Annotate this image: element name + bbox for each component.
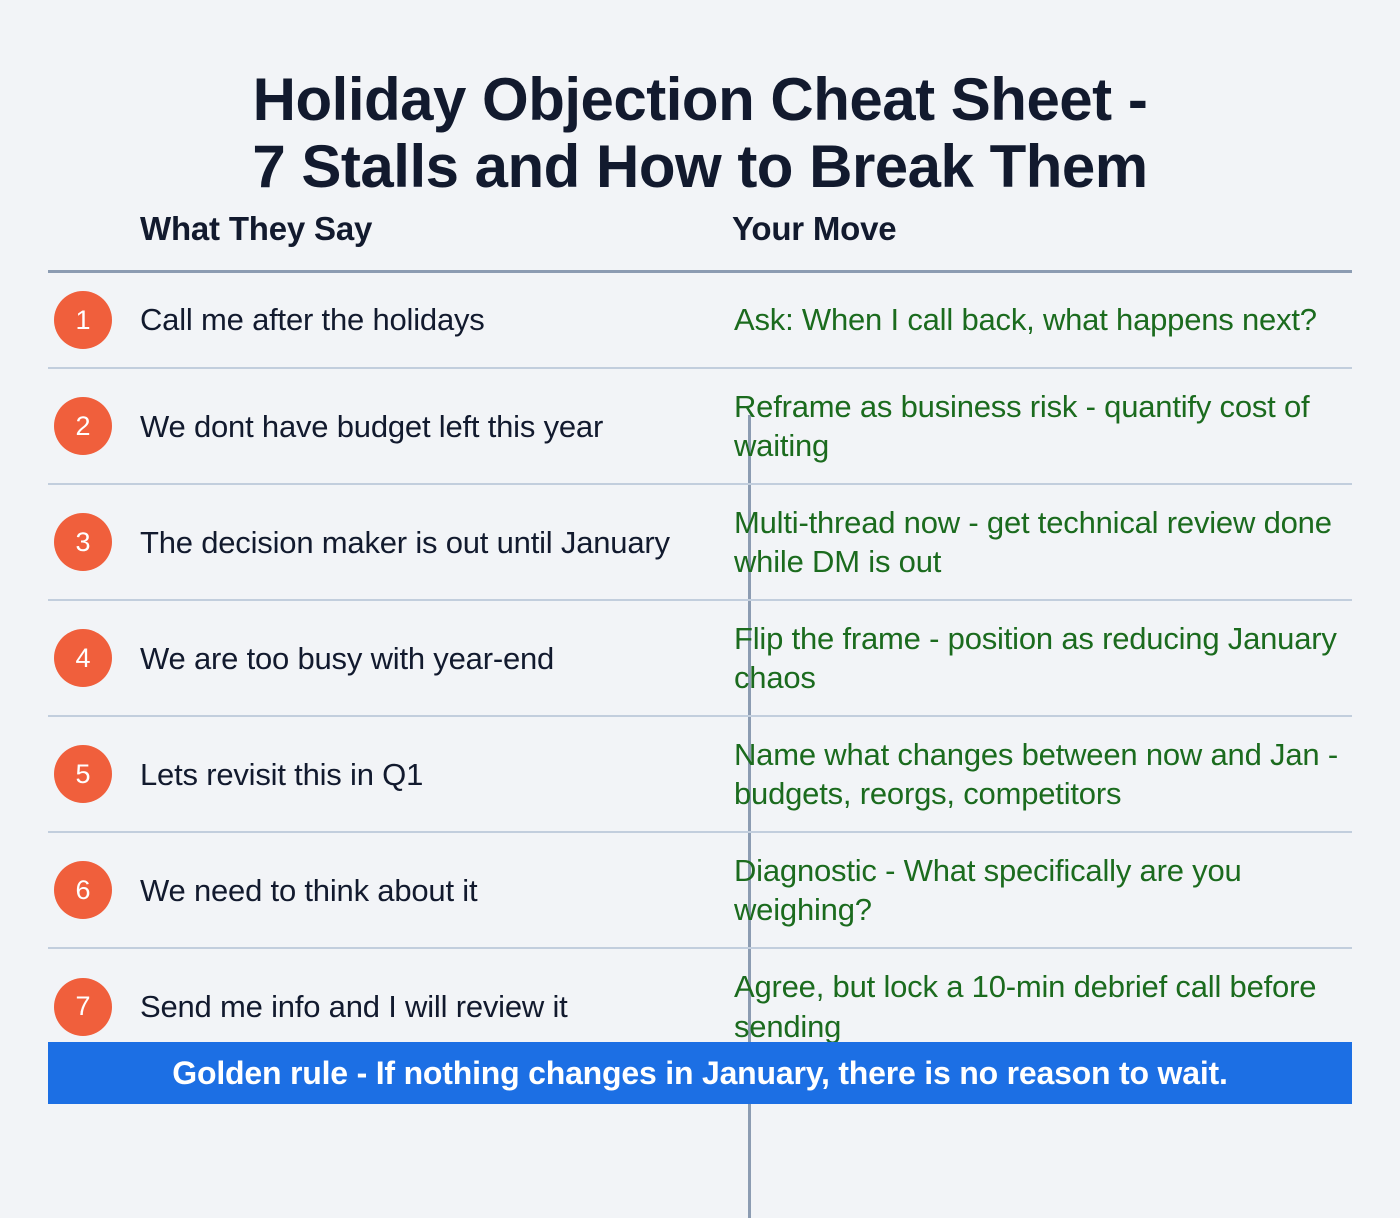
response-text: Agree, but lock a 10-min debrief call be… [734, 967, 1340, 1045]
table-row: 5 Lets revisit this in Q1 Name what chan… [48, 717, 1352, 833]
objections-table: What They Say Your Move 1 Call me after … [48, 200, 1352, 270]
page-title-line-2: 7 Stalls and How to Break Them [0, 133, 1400, 200]
row-number-badge: 4 [54, 629, 112, 687]
objection-cell: 3 The decision maker is out until Januar… [48, 485, 700, 599]
objection-text: Send me info and I will review it [140, 987, 568, 1026]
objection-text: We are too busy with year-end [140, 639, 554, 678]
row-number-badge: 7 [54, 978, 112, 1036]
golden-rule-banner: Golden rule - If nothing changes in Janu… [48, 1042, 1352, 1104]
response-cell: Diagnostic - What specifically are you w… [700, 833, 1352, 947]
golden-rule-text: Golden rule - If nothing changes in Janu… [172, 1055, 1227, 1092]
row-number-badge: 5 [54, 745, 112, 803]
response-text: Ask: When I call back, what happens next… [734, 300, 1317, 339]
objection-cell: 4 We are too busy with year-end [48, 601, 700, 715]
table-row: 4 We are too busy with year-end Flip the… [48, 601, 1352, 717]
row-number-badge: 3 [54, 513, 112, 571]
objection-cell: 5 Lets revisit this in Q1 [48, 717, 700, 831]
table-body: 1 Call me after the holidays Ask: When I… [48, 273, 1352, 1064]
response-cell: Multi-thread now - get technical review … [700, 485, 1352, 599]
response-cell: Name what changes between now and Jan - … [700, 717, 1352, 831]
response-cell: Ask: When I call back, what happens next… [700, 273, 1352, 367]
objection-text: We need to think about it [140, 871, 477, 910]
page-title-line-1: Holiday Objection Cheat Sheet - [0, 66, 1400, 133]
objection-cell: 2 We dont have budget left this year [48, 369, 700, 483]
response-cell: Flip the frame - position as reducing Ja… [700, 601, 1352, 715]
table-row: 2 We dont have budget left this year Ref… [48, 369, 1352, 485]
objection-cell: 6 We need to think about it [48, 833, 700, 947]
row-number-badge: 1 [54, 291, 112, 349]
table-row: 6 We need to think about it Diagnostic -… [48, 833, 1352, 949]
objection-cell: 1 Call me after the holidays [48, 273, 700, 367]
response-text: Diagnostic - What specifically are you w… [734, 851, 1340, 929]
response-text: Multi-thread now - get technical review … [734, 503, 1340, 581]
objection-text: The decision maker is out until January [140, 523, 670, 562]
response-text: Reframe as business risk - quantify cost… [734, 387, 1340, 465]
page-title: Holiday Objection Cheat Sheet - 7 Stalls… [0, 66, 1400, 200]
objection-text: Lets revisit this in Q1 [140, 755, 423, 794]
response-cell: Reframe as business risk - quantify cost… [700, 369, 1352, 483]
objection-text: Call me after the holidays [140, 300, 485, 339]
table-row: 1 Call me after the holidays Ask: When I… [48, 273, 1352, 369]
table-header-row: What They Say Your Move [48, 200, 1352, 270]
column-header-what-they-say: What They Say [140, 210, 372, 248]
row-number-badge: 6 [54, 861, 112, 919]
cheat-sheet-page: Holiday Objection Cheat Sheet - 7 Stalls… [0, 0, 1400, 1127]
response-text: Name what changes between now and Jan - … [734, 735, 1340, 813]
row-number-badge: 2 [54, 397, 112, 455]
objection-text: We dont have budget left this year [140, 407, 603, 446]
column-header-your-move: Your Move [732, 210, 896, 248]
response-text: Flip the frame - position as reducing Ja… [734, 619, 1340, 697]
table-row: 3 The decision maker is out until Januar… [48, 485, 1352, 601]
